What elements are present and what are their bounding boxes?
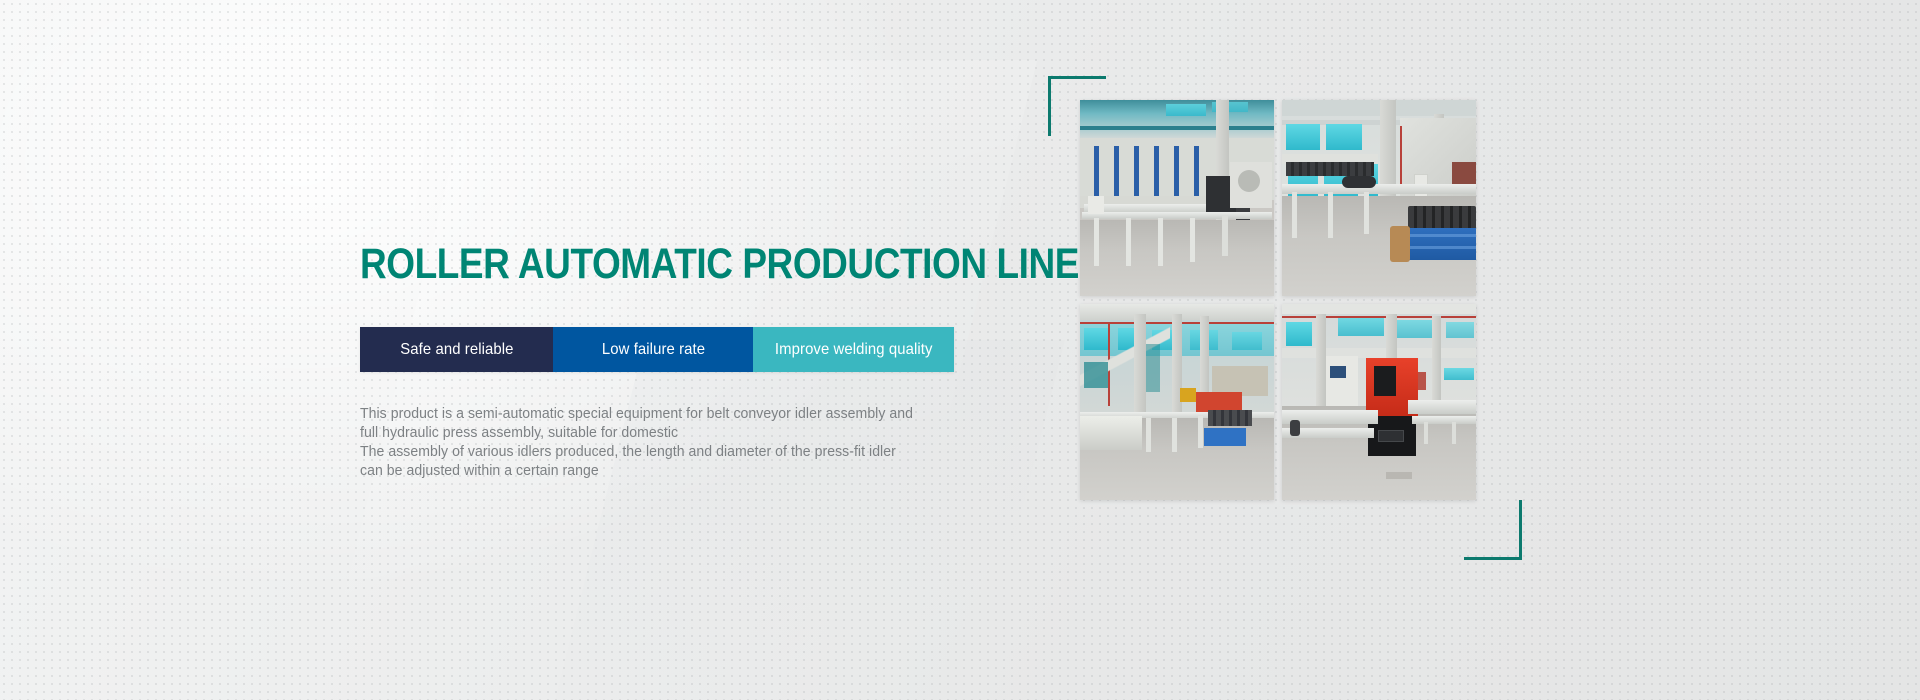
tab-improve-welding-quality[interactable]: Improve welding quality bbox=[753, 327, 954, 372]
gallery-photo-3[interactable]: factory-overhead-pipes-and-assembly-mach… bbox=[1080, 304, 1274, 500]
photo-gallery: factory-roller-conveyor-line bbox=[1080, 100, 1490, 535]
feature-tab-bar[interactable]: Safe and reliable Low failure rate Impro… bbox=[360, 327, 954, 372]
description-line-3: The assembly of various idlers produced,… bbox=[360, 443, 884, 462]
description-line-2: full hydraulic press assembly, suitable … bbox=[360, 424, 884, 443]
tab-safe-and-reliable[interactable]: Safe and reliable bbox=[360, 327, 553, 372]
product-description: This product is a semi-automatic special… bbox=[360, 405, 900, 481]
gallery-photo-1[interactable]: factory-roller-conveyor-line bbox=[1080, 100, 1274, 296]
tab-low-failure-rate-label: Low failure rate bbox=[601, 341, 704, 359]
gallery-photo-4[interactable]: red-welding-machine-on-production-line bbox=[1282, 304, 1476, 500]
tab-improve-welding-quality-label: Improve welding quality bbox=[775, 341, 933, 359]
description-line-4: can be adjusted within a certain range bbox=[360, 462, 884, 481]
hero-text-column: ROLLER AUTOMATIC PRODUCTION LINE Safe an… bbox=[360, 0, 1060, 700]
gallery-photo-2[interactable]: factory-workbench-with-blue-crate-of-rol… bbox=[1282, 100, 1476, 296]
photo-grid: factory-roller-conveyor-line bbox=[1080, 100, 1490, 535]
tab-low-failure-rate[interactable]: Low failure rate bbox=[553, 327, 753, 372]
tab-safe-and-reliable-label: Safe and reliable bbox=[400, 341, 513, 359]
hero-banner: ROLLER AUTOMATIC PRODUCTION LINE Safe an… bbox=[0, 0, 1920, 700]
page-title: ROLLER AUTOMATIC PRODUCTION LINE bbox=[360, 243, 1079, 286]
description-line-1: This product is a semi-automatic special… bbox=[360, 405, 884, 424]
